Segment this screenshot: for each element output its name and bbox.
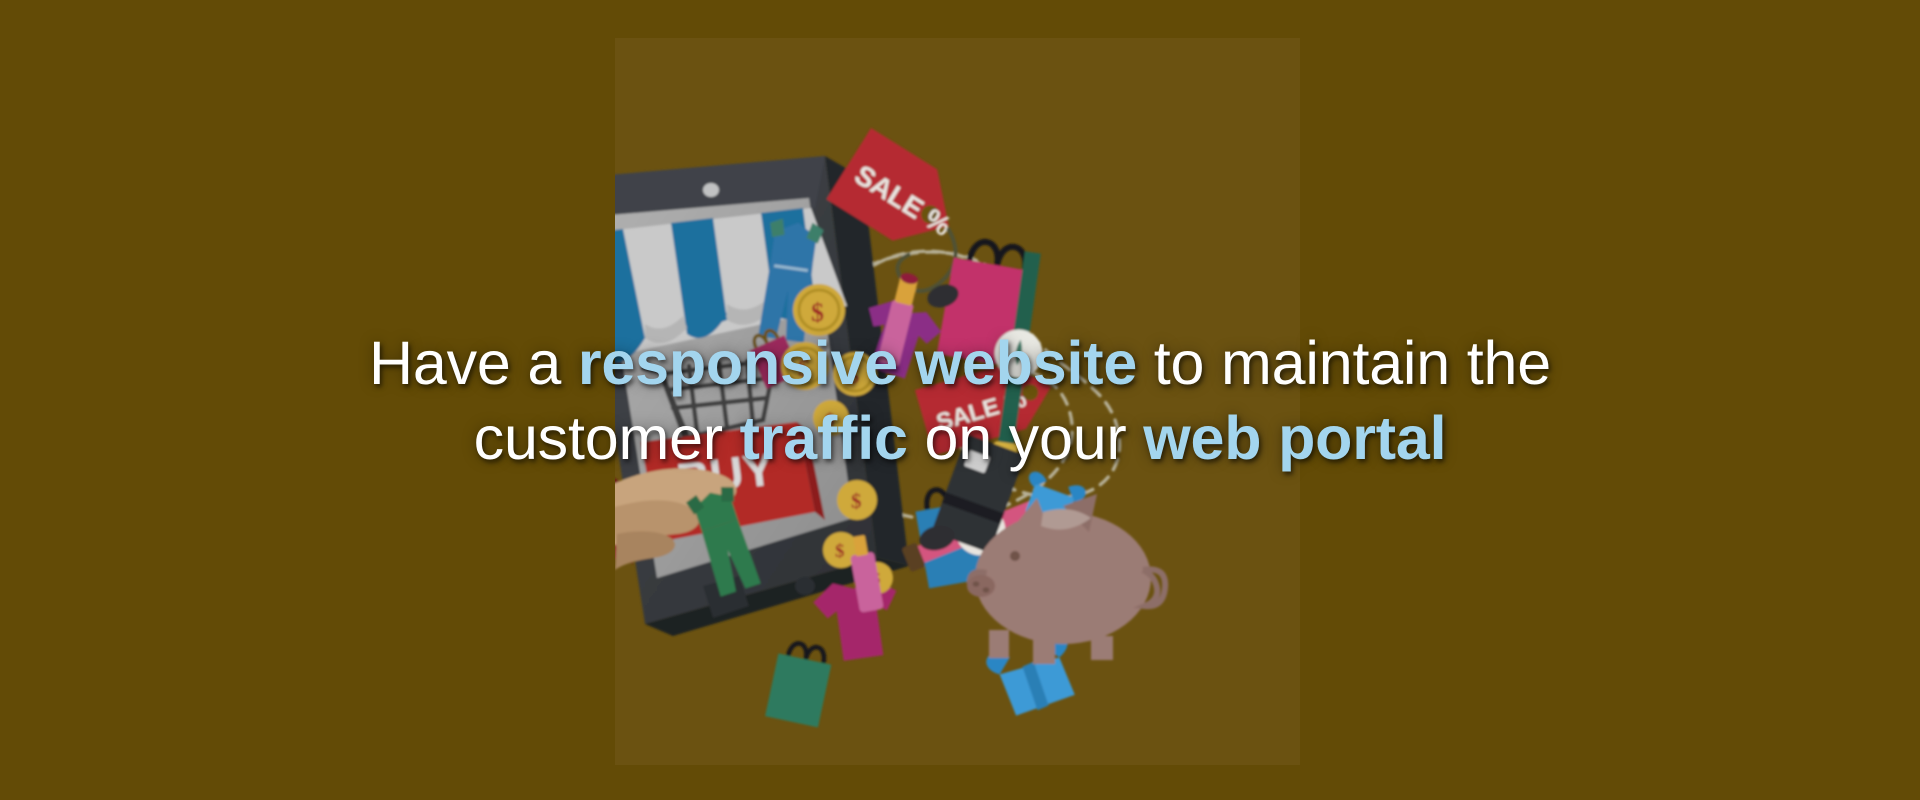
headline-line1-part1: Have a [369,329,578,397]
svg-text:$: $ [835,541,845,562]
coin-symbol: $ [811,298,824,327]
svg-text:$: $ [851,489,862,513]
phone-sensor-icon [795,577,815,595]
svg-text:$: $ [848,363,859,388]
hero-banner: BUY SALE % [0,0,1920,800]
svg-text:$: $ [798,356,810,382]
phone-camera-icon [703,183,719,197]
svg-text:$: $ [825,410,835,431]
ecommerce-illustration: BUY SALE % [615,38,1300,765]
illustration-panel: BUY SALE % [615,38,1300,765]
